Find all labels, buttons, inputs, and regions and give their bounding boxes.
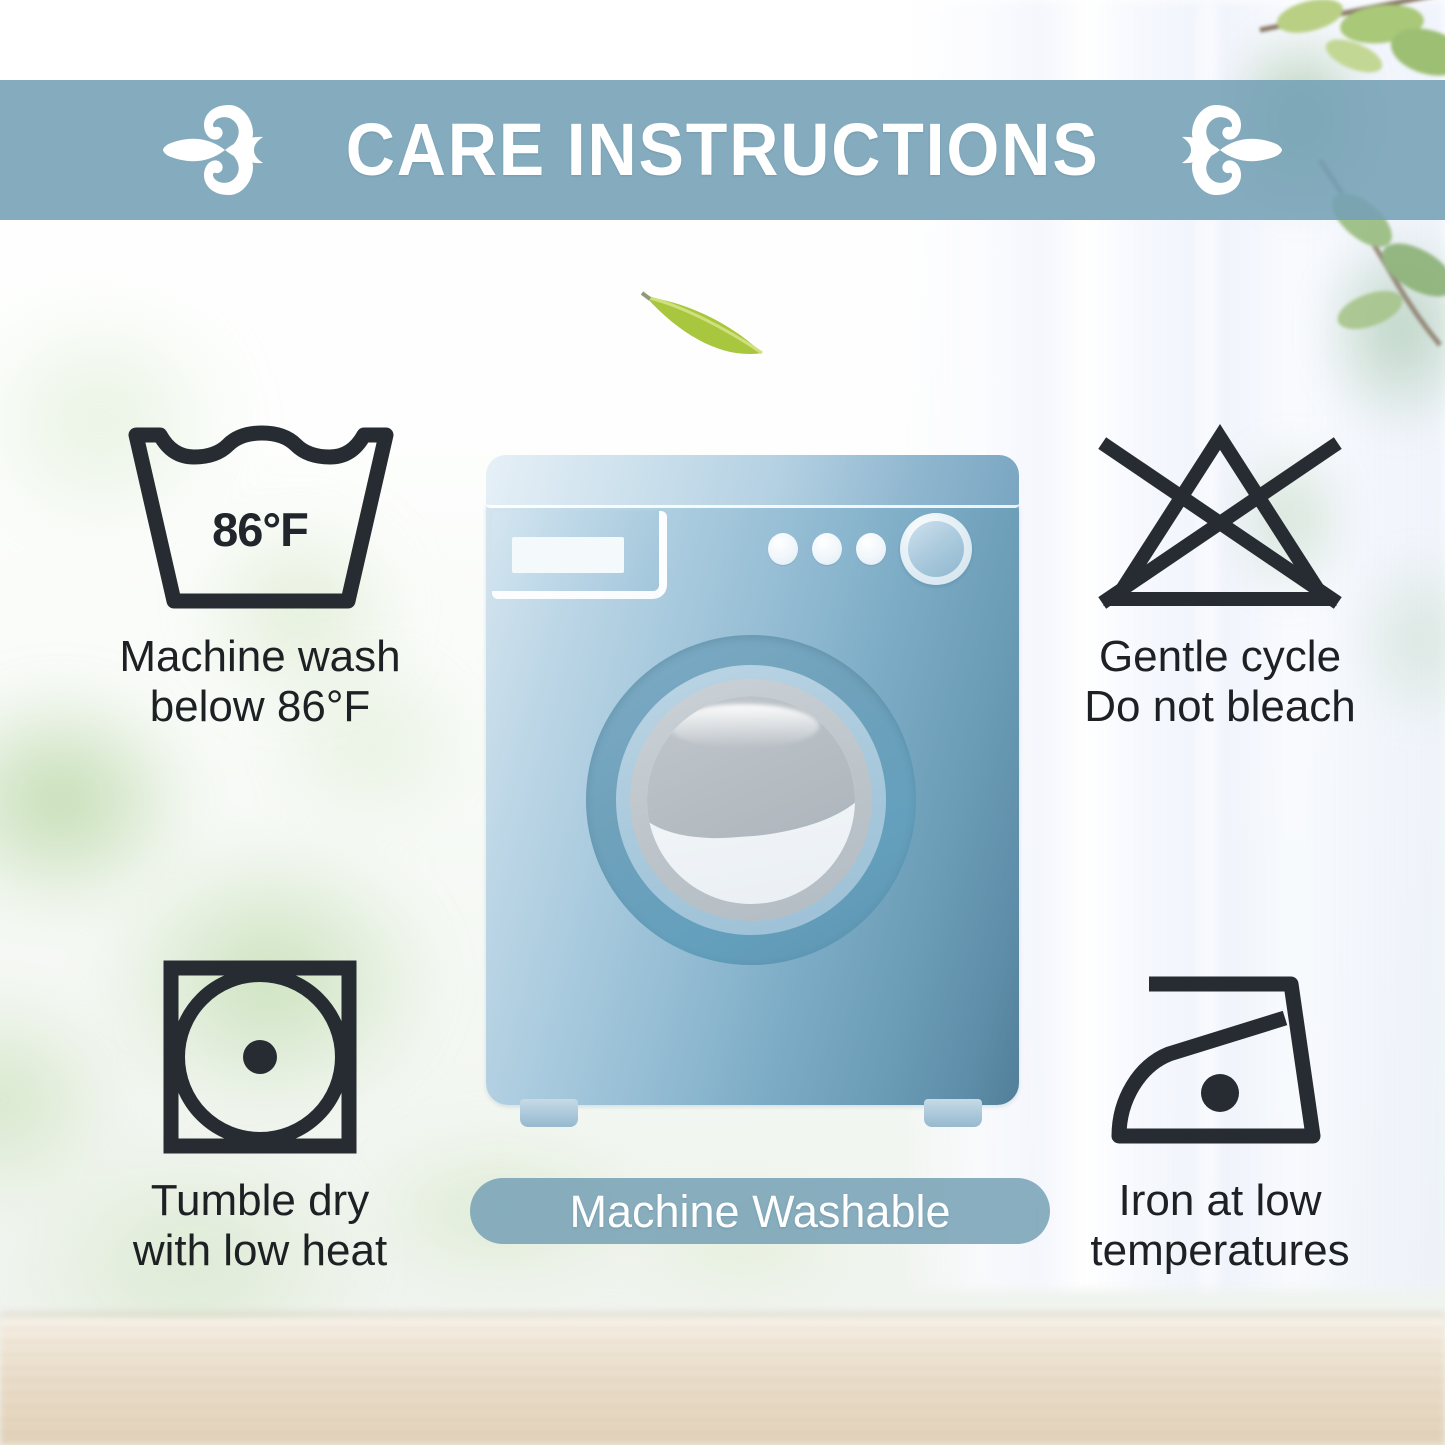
page-title: CARE INSTRUCTIONS bbox=[346, 113, 1100, 187]
care-symbol-label: Machine wash below 86°F bbox=[40, 632, 480, 732]
washer-button-1[interactable] bbox=[768, 533, 798, 565]
washer-door[interactable] bbox=[586, 635, 916, 965]
washing-machine-illustration bbox=[480, 455, 1025, 1125]
iron-low-icon bbox=[1000, 952, 1440, 1162]
care-symbol-iron-low: Iron at low temperatures bbox=[1000, 952, 1440, 1276]
washer-foot-right bbox=[924, 1099, 982, 1127]
care-instructions-infographic: CARE INSTRUCTIONS 86°F Machine bbox=[0, 0, 1445, 1445]
detergent-drawer[interactable] bbox=[492, 511, 667, 599]
machine-washable-badge: Machine Washable bbox=[470, 1178, 1050, 1244]
fleur-de-lis-icon bbox=[1166, 95, 1286, 205]
washer-top-panel bbox=[486, 455, 1019, 508]
wash-basin-icon: 86°F bbox=[40, 418, 480, 618]
tumble-dry-low-icon bbox=[40, 952, 480, 1162]
washer-door-ring-inner bbox=[630, 679, 872, 921]
care-symbol-machine-wash: 86°F Machine wash below 86°F bbox=[40, 418, 480, 732]
washer-door-glass bbox=[647, 696, 855, 904]
washer-button-2[interactable] bbox=[812, 533, 842, 565]
care-symbol-do-not-bleach: Gentle cycle Do not bleach bbox=[1000, 418, 1440, 732]
care-symbol-label: Iron at low temperatures bbox=[1000, 1176, 1440, 1276]
washer-button-3[interactable] bbox=[856, 533, 886, 565]
machine-washable-badge-label: Machine Washable bbox=[569, 1189, 950, 1234]
crossed-triangle-icon bbox=[1000, 418, 1440, 618]
washer-program-knob[interactable] bbox=[900, 513, 972, 585]
washer-knob-inner bbox=[908, 521, 964, 577]
washer-foot-left bbox=[520, 1099, 578, 1127]
washer-glass-highlight bbox=[669, 704, 819, 748]
care-symbol-label: Gentle cycle Do not bleach bbox=[1000, 632, 1440, 732]
wash-temperature-value: 86°F bbox=[40, 502, 480, 557]
foliage-sprig-icon bbox=[1250, 0, 1445, 90]
washer-door-ring-outer bbox=[616, 665, 886, 935]
leaf-icon bbox=[640, 275, 780, 365]
header-banner: CARE INSTRUCTIONS bbox=[0, 80, 1445, 220]
care-symbol-label: Tumble dry with low heat bbox=[40, 1176, 480, 1276]
detergent-drawer-slot bbox=[512, 537, 624, 573]
fleur-de-lis-icon bbox=[159, 95, 279, 205]
background-table-woodgrain bbox=[0, 1318, 1445, 1445]
care-symbol-tumble-dry: Tumble dry with low heat bbox=[40, 952, 480, 1276]
